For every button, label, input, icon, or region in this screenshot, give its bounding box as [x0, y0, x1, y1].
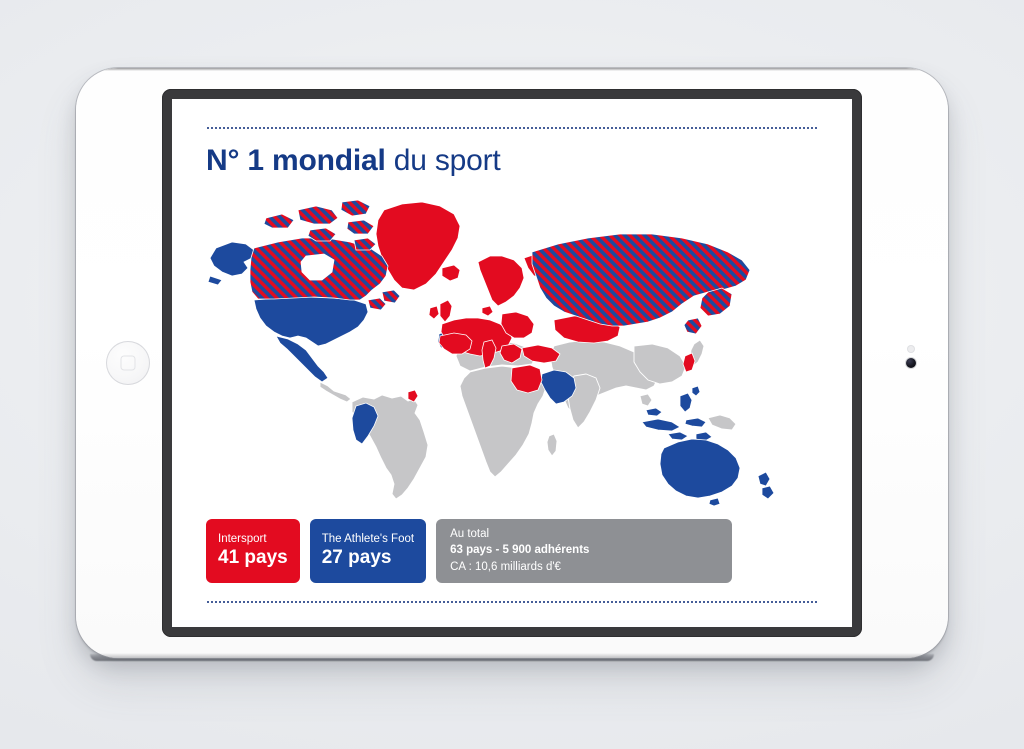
- total-countries: 63 pays - 5 900 adhérents: [450, 542, 718, 558]
- legend-badge-intersport[interactable]: Intersport 41 pays: [206, 519, 300, 583]
- total-revenue: CA : 10,6 milliards d'€: [450, 559, 718, 575]
- dotted-divider-bottom: [206, 601, 818, 603]
- legend-count-athletes-foot: 27 pays: [322, 547, 414, 569]
- map-area: [206, 183, 818, 520]
- dotted-divider-top: [206, 127, 818, 129]
- home-button-square-icon: [121, 356, 136, 371]
- legend-brand-intersport: Intersport: [218, 532, 288, 546]
- page-title-light: du sport: [386, 144, 501, 177]
- home-button[interactable]: [106, 341, 150, 385]
- ambient-light-sensor: [908, 346, 914, 352]
- legend-total-box: Au total 63 pays - 5 900 adhérents CA : …: [436, 519, 732, 583]
- page-title-bold: N° 1 mondial: [206, 144, 386, 177]
- legend-badge-athletes-foot[interactable]: The Athlete's Foot 27 pays: [310, 519, 426, 583]
- screen-bezel: N° 1 mondial du sport: [162, 89, 862, 637]
- slide: N° 1 mondial du sport: [172, 99, 852, 627]
- tablet-device: N° 1 mondial du sport: [76, 68, 948, 658]
- legend-count-intersport: 41 pays: [218, 547, 288, 569]
- screen: N° 1 mondial du sport: [172, 99, 852, 627]
- page-title: N° 1 mondial du sport: [206, 145, 818, 177]
- total-heading: Au total: [450, 526, 718, 542]
- legend-row: Intersport 41 pays The Athlete's Foot 27…: [206, 519, 818, 583]
- legend-brand-athletes-foot: The Athlete's Foot: [322, 532, 414, 546]
- front-camera-icon: [906, 358, 916, 368]
- world-map[interactable]: [202, 196, 822, 506]
- device-bottom-edge: [90, 654, 934, 661]
